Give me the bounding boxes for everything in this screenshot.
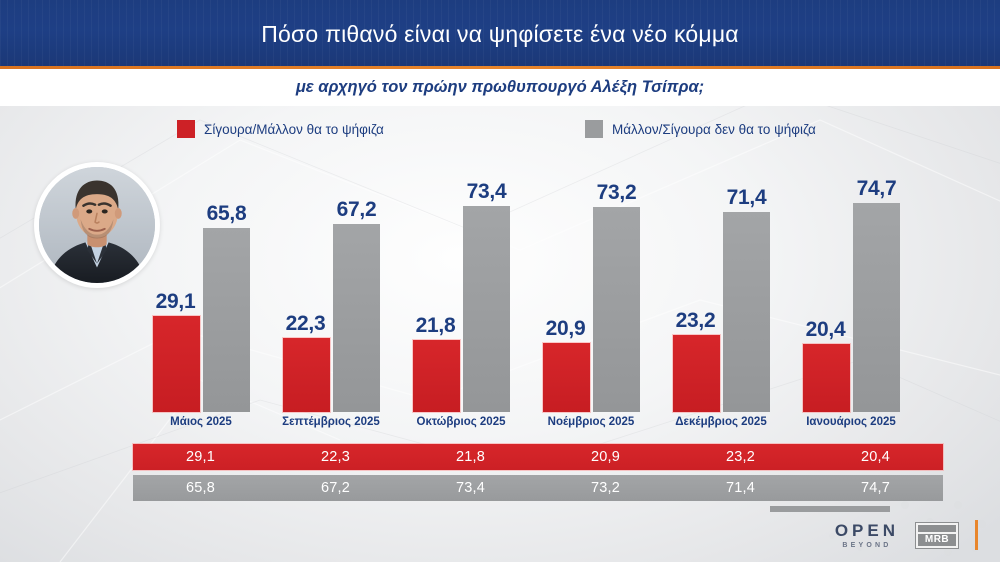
bar-value-no: 74,7 xyxy=(853,177,900,201)
bar-no[interactable] xyxy=(333,224,380,412)
table-cell: 71,4 xyxy=(673,480,808,496)
footer-logos: OPEN BEYOND MRB xyxy=(835,520,978,550)
poll-chart-infographic: Πόσο πιθανό είναι να ψηφίσετε ένα νέο κό… xyxy=(0,0,1000,562)
x-axis-label: Δεκέμβριος 2025 xyxy=(659,416,783,428)
chart-legend: Σίγουρα/Μάλλον θα το ψήφιζα Μάλλον/Σίγου… xyxy=(0,120,1000,142)
bar-value-yes: 22,3 xyxy=(282,312,329,336)
bar-value-no: 73,4 xyxy=(463,180,510,204)
bar-group: 20,9 73,2 Νοέμβριος 2025 xyxy=(541,150,641,412)
table-cell: 20,4 xyxy=(808,449,943,465)
open-logo-text: OPEN xyxy=(835,522,899,539)
x-axis-label: Οκτώβριος 2025 xyxy=(399,416,523,428)
legend-item-yes[interactable]: Σίγουρα/Μάλλον θα το ψήφιζα xyxy=(177,120,384,138)
legend-label-no: Μάλλον/Σίγουρα δεν θα το ψήφιζα xyxy=(612,122,816,137)
legend-item-no[interactable]: Μάλλον/Σίγουρα δεν θα το ψήφιζα xyxy=(585,120,816,138)
bar-value-no: 71,4 xyxy=(723,186,770,210)
table-cell: 73,4 xyxy=(403,480,538,496)
mrb-logo-bar-icon xyxy=(918,525,956,532)
bar-yes[interactable] xyxy=(413,340,460,412)
table-cell: 67,2 xyxy=(268,480,403,496)
bar-chart-plot: 29,1 65,8 Μάιος 2025 22,3 67,2 Σεπτέμβρι… xyxy=(0,150,1000,412)
table-cell: 73,2 xyxy=(538,480,673,496)
bar-yes[interactable] xyxy=(153,316,200,412)
bar-yes[interactable] xyxy=(543,343,590,412)
bar-value-yes: 29,1 xyxy=(152,290,199,314)
beyond-logo-text: BEYOND xyxy=(842,542,891,549)
bar-no[interactable] xyxy=(723,212,770,412)
x-axis-label: Μάιος 2025 xyxy=(139,416,263,428)
table-cell: 74,7 xyxy=(808,480,943,496)
x-axis-label: Νοέμβριος 2025 xyxy=(529,416,653,428)
bar-yes[interactable] xyxy=(803,344,850,412)
legend-swatch-no-icon xyxy=(585,120,603,138)
table-cell: 21,8 xyxy=(403,449,538,465)
bar-value-no: 67,2 xyxy=(333,198,380,222)
bar-value-no: 65,8 xyxy=(203,202,250,226)
bar-yes[interactable] xyxy=(283,338,330,412)
bar-no[interactable] xyxy=(853,203,900,412)
table-cell: 23,2 xyxy=(673,449,808,465)
x-axis-label: Ιανουάριος 2025 xyxy=(789,416,913,428)
mrb-logo-text: MRB xyxy=(918,534,956,546)
bar-yes[interactable] xyxy=(673,335,720,412)
legend-swatch-yes-icon xyxy=(177,120,195,138)
table-row: 29,1 22,3 21,8 20,9 23,2 20,4 xyxy=(133,444,943,470)
bar-no[interactable] xyxy=(463,206,510,412)
bar-no[interactable] xyxy=(593,207,640,412)
page-subtitle: με αρχηγό τον πρώην πρωθυπουργό Αλέξη Τσ… xyxy=(0,78,1000,97)
bar-value-yes: 21,8 xyxy=(412,314,459,338)
legend-label-yes: Σίγουρα/Μάλλον θα το ψήφιζα xyxy=(204,122,384,137)
bar-value-yes: 20,9 xyxy=(542,317,589,341)
page-title: Πόσο πιθανό είναι να ψηφίσετε ένα νέο κό… xyxy=(0,21,1000,48)
table-cell: 20,9 xyxy=(538,449,673,465)
table-cell: 22,3 xyxy=(268,449,403,465)
table-cell: 65,8 xyxy=(133,480,268,496)
bar-value-no: 73,2 xyxy=(593,181,640,205)
bar-no[interactable] xyxy=(203,228,250,412)
bar-group: 22,3 67,2 Σεπτέμβριος 2025 xyxy=(281,150,381,412)
x-axis-label: Σεπτέμβριος 2025 xyxy=(269,416,393,428)
table-cell: 29,1 xyxy=(133,449,268,465)
data-table: 29,1 22,3 21,8 20,9 23,2 20,4 65,8 67,2 … xyxy=(133,444,943,506)
footer-accent-tick xyxy=(975,520,978,550)
bar-group: 21,8 73,4 Οκτώβριος 2025 xyxy=(411,150,511,412)
bar-group: 20,4 74,7 Ιανουάριος 2025 xyxy=(801,150,901,412)
open-beyond-logo: OPEN BEYOND xyxy=(835,522,899,549)
bar-group: 23,2 71,4 Δεκέμβριος 2025 xyxy=(671,150,771,412)
bar-value-yes: 23,2 xyxy=(672,309,719,333)
table-row: 65,8 67,2 73,4 73,2 71,4 74,7 xyxy=(133,475,943,501)
mrb-logo: MRB xyxy=(915,522,959,549)
footer-divider xyxy=(770,506,890,512)
bar-group: 29,1 65,8 Μάιος 2025 xyxy=(151,150,251,412)
bar-value-yes: 20,4 xyxy=(802,318,849,342)
